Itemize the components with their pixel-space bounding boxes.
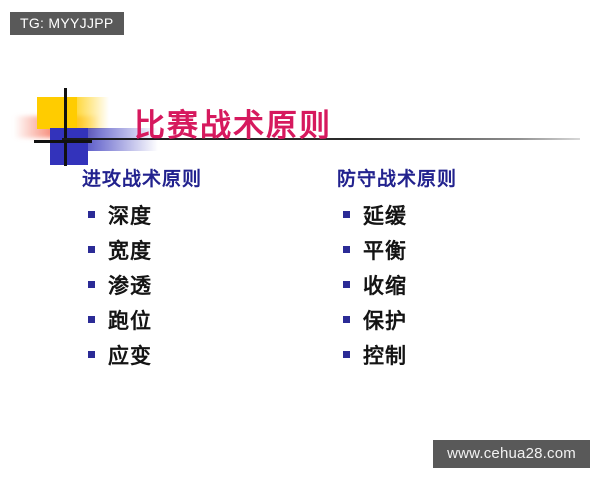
list-item-label: 宽度 <box>108 235 152 265</box>
square-bullet-icon <box>88 246 95 253</box>
ornament-yellow-square <box>37 97 77 129</box>
list-item-label: 平衡 <box>363 235 407 265</box>
list-item: 跑位 <box>82 302 202 337</box>
list-item: 宽度 <box>82 232 202 267</box>
list-item: 渗透 <box>82 267 202 302</box>
list-item: 保护 <box>337 302 457 337</box>
list-item-label: 渗透 <box>108 270 152 300</box>
square-bullet-icon <box>343 211 350 218</box>
slide-canvas: TG: MYYJJPP 比赛战术原则 进攻战术原则 深度 宽度 <box>0 0 600 480</box>
list-item-label: 深度 <box>108 200 152 230</box>
list-item: 平衡 <box>337 232 457 267</box>
ornament-vertical-bar <box>64 88 67 166</box>
ornament-horizontal-bar <box>34 140 92 143</box>
ornament-blue-square <box>50 128 88 165</box>
column-heading-offensive: 进攻战术原则 <box>82 164 202 191</box>
square-bullet-icon <box>343 316 350 323</box>
list-item-label: 控制 <box>363 340 407 370</box>
square-bullet-icon <box>88 316 95 323</box>
column-offensive: 进攻战术原则 深度 宽度 渗透 跑位 <box>82 164 202 372</box>
page-title: 比赛战术原则 <box>134 100 332 145</box>
square-bullet-icon <box>343 246 350 253</box>
site-watermark: www.cehua28.com <box>433 440 590 468</box>
list-item-label: 应变 <box>108 340 152 370</box>
list-item-label: 保护 <box>363 305 407 335</box>
square-bullet-icon <box>343 351 350 358</box>
square-bullet-icon <box>88 281 95 288</box>
square-bullet-icon <box>343 281 350 288</box>
list-item: 延缓 <box>337 197 457 232</box>
list-item-label: 跑位 <box>108 305 152 335</box>
square-bullet-icon <box>88 351 95 358</box>
column-heading-defensive: 防守战术原则 <box>337 164 457 191</box>
list-item: 深度 <box>82 197 202 232</box>
bullet-list-defensive: 延缓 平衡 收缩 保护 控制 <box>337 197 457 372</box>
list-item-label: 收缩 <box>363 270 407 300</box>
square-bullet-icon <box>88 211 95 218</box>
ornament-yellow-fade <box>77 97 109 129</box>
list-item-label: 延缓 <box>363 200 407 230</box>
column-defensive: 防守战术原则 延缓 平衡 收缩 保护 <box>337 164 457 372</box>
bullet-list-offensive: 深度 宽度 渗透 跑位 应变 <box>82 197 202 372</box>
list-item: 控制 <box>337 337 457 372</box>
list-item: 应变 <box>82 337 202 372</box>
tag-badge: TG: MYYJJPP <box>10 12 124 35</box>
list-item: 收缩 <box>337 267 457 302</box>
